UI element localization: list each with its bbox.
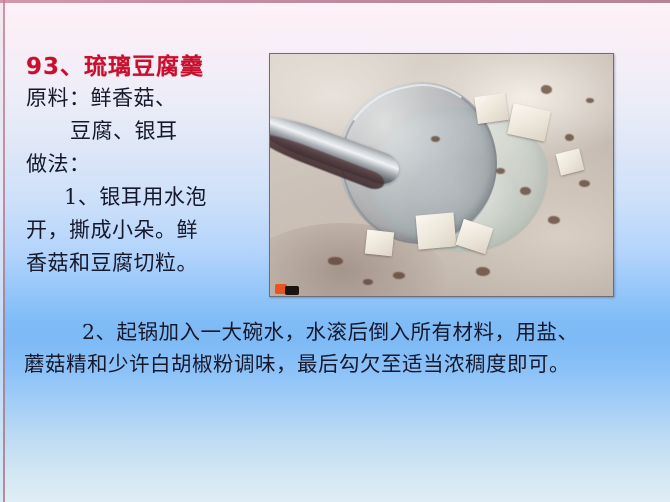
left-border-strip	[3, 0, 5, 502]
top-border-strip	[0, 0, 670, 3]
mushroom-bit	[476, 267, 490, 276]
ingredients-line-2: 豆腐、银耳	[26, 115, 262, 148]
step1-line-2: 开，撕成小朵。鲜	[26, 214, 262, 247]
slide-canvas: 93、琉璃豆腐羹 原料：鲜香菇、 豆腐、银耳 做法： 1、银耳用水泡 开，撕成小…	[0, 0, 670, 502]
ingredients-line-1: 原料：鲜香菇、	[26, 82, 262, 115]
mushroom-bit	[496, 168, 504, 174]
recipe-title: 93、琉璃豆腐羹	[26, 52, 262, 82]
mushroom-bit	[520, 187, 530, 195]
mushroom-bit	[541, 85, 552, 93]
step1-line-1: 1、银耳用水泡	[26, 181, 262, 214]
tofu-cube	[474, 93, 508, 124]
tofu-cube	[416, 212, 457, 249]
recipe-text-column: 93、琉璃豆腐羹 原料：鲜香菇、 豆腐、银耳 做法： 1、银耳用水泡 开，撕成小…	[26, 52, 262, 280]
dish-photo-content	[270, 54, 613, 296]
step2-line-1: 2、起锅加入一大碗水，水滚后倒入所有材料，用盐、	[24, 316, 646, 348]
method-label: 做法：	[26, 148, 262, 181]
tofu-cube	[556, 148, 585, 175]
step1-line-3: 香菇和豆腐切粒。	[26, 247, 262, 280]
mushroom-bit	[586, 98, 594, 104]
step2-paragraph: 2、起锅加入一大碗水，水滚后倒入所有材料，用盐、 蘑菇精和少许白胡椒粉调味，最后…	[24, 316, 646, 380]
tofu-cube	[365, 229, 395, 256]
mushroom-bit	[548, 216, 560, 224]
mushroom-bit	[579, 180, 591, 187]
step2-line-2: 蘑菇精和少许白胡椒粉调味，最后勾欠至适当浓稠度即可。	[24, 348, 646, 380]
mushroom-bit	[565, 134, 574, 141]
mushroom-bit	[393, 272, 405, 279]
dark-speck	[285, 286, 299, 294]
dish-photo	[269, 53, 614, 297]
